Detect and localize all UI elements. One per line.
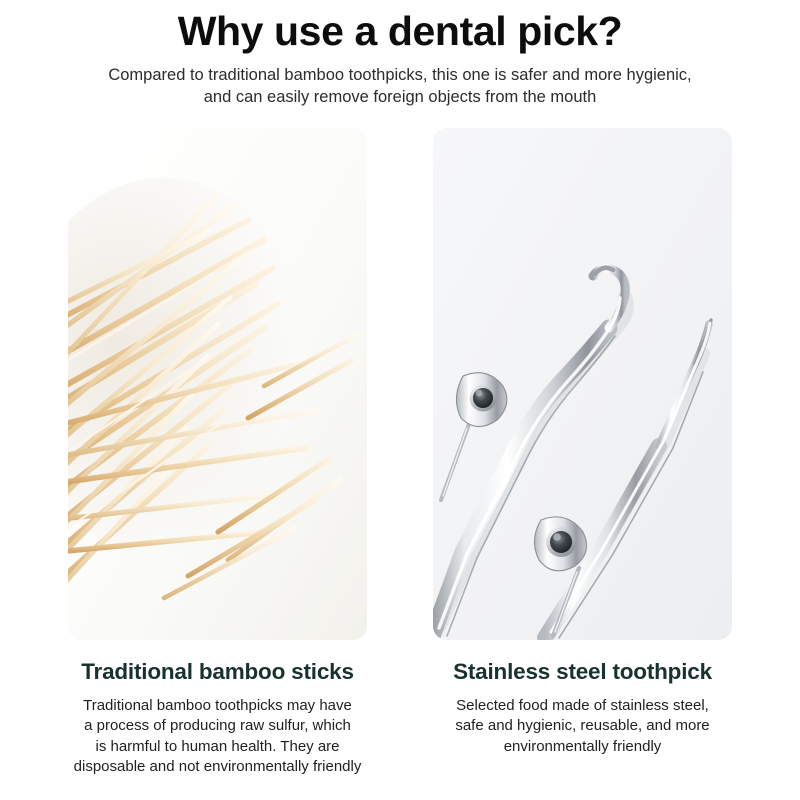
page-subtitle-line-2: and can easily remove foreign objects fr…	[70, 86, 730, 108]
bamboo-toothpicks-photo	[68, 128, 367, 640]
stainless-steel-toothpick-photo	[433, 128, 732, 640]
bamboo-toothpicks-illustration	[68, 128, 367, 640]
comparison-column-steel: Stainless steel toothpick Selected food …	[433, 128, 732, 778]
page-subtitle-line-1: Compared to traditional bamboo toothpick…	[70, 64, 730, 86]
caption-body-line: environmentally friendly	[439, 737, 727, 758]
page-subtitle: Compared to traditional bamboo toothpick…	[70, 52, 730, 108]
caption-body-line: Traditional bamboo toothpicks may have	[74, 696, 362, 717]
caption-body-line: a process of producing raw sulfur, which	[74, 716, 362, 737]
caption-body-steel: Selected food made of stainless steel, s…	[439, 685, 727, 758]
comparison-section: Traditional bamboo sticks Traditional ba…	[0, 128, 800, 778]
caption-title-bamboo: Traditional bamboo sticks	[81, 640, 354, 685]
stainless-steel-tweezers-illustration	[433, 128, 732, 640]
caption-title-steel: Stainless steel toothpick	[453, 640, 712, 685]
comparison-column-bamboo: Traditional bamboo sticks Traditional ba…	[68, 128, 367, 778]
caption-body-line: safe and hygienic, reusable, and more	[439, 716, 727, 737]
page-header: Why use a dental pick? Compared to tradi…	[0, 0, 800, 108]
caption-body-line: disposable and not environmentally frien…	[74, 757, 362, 778]
caption-body-line: Selected food made of stainless steel,	[439, 696, 727, 717]
caption-body-bamboo: Traditional bamboo toothpicks may have a…	[74, 685, 362, 778]
caption-body-line: is harmful to human health. They are	[74, 737, 362, 758]
page-title: Why use a dental pick?	[0, 0, 800, 52]
